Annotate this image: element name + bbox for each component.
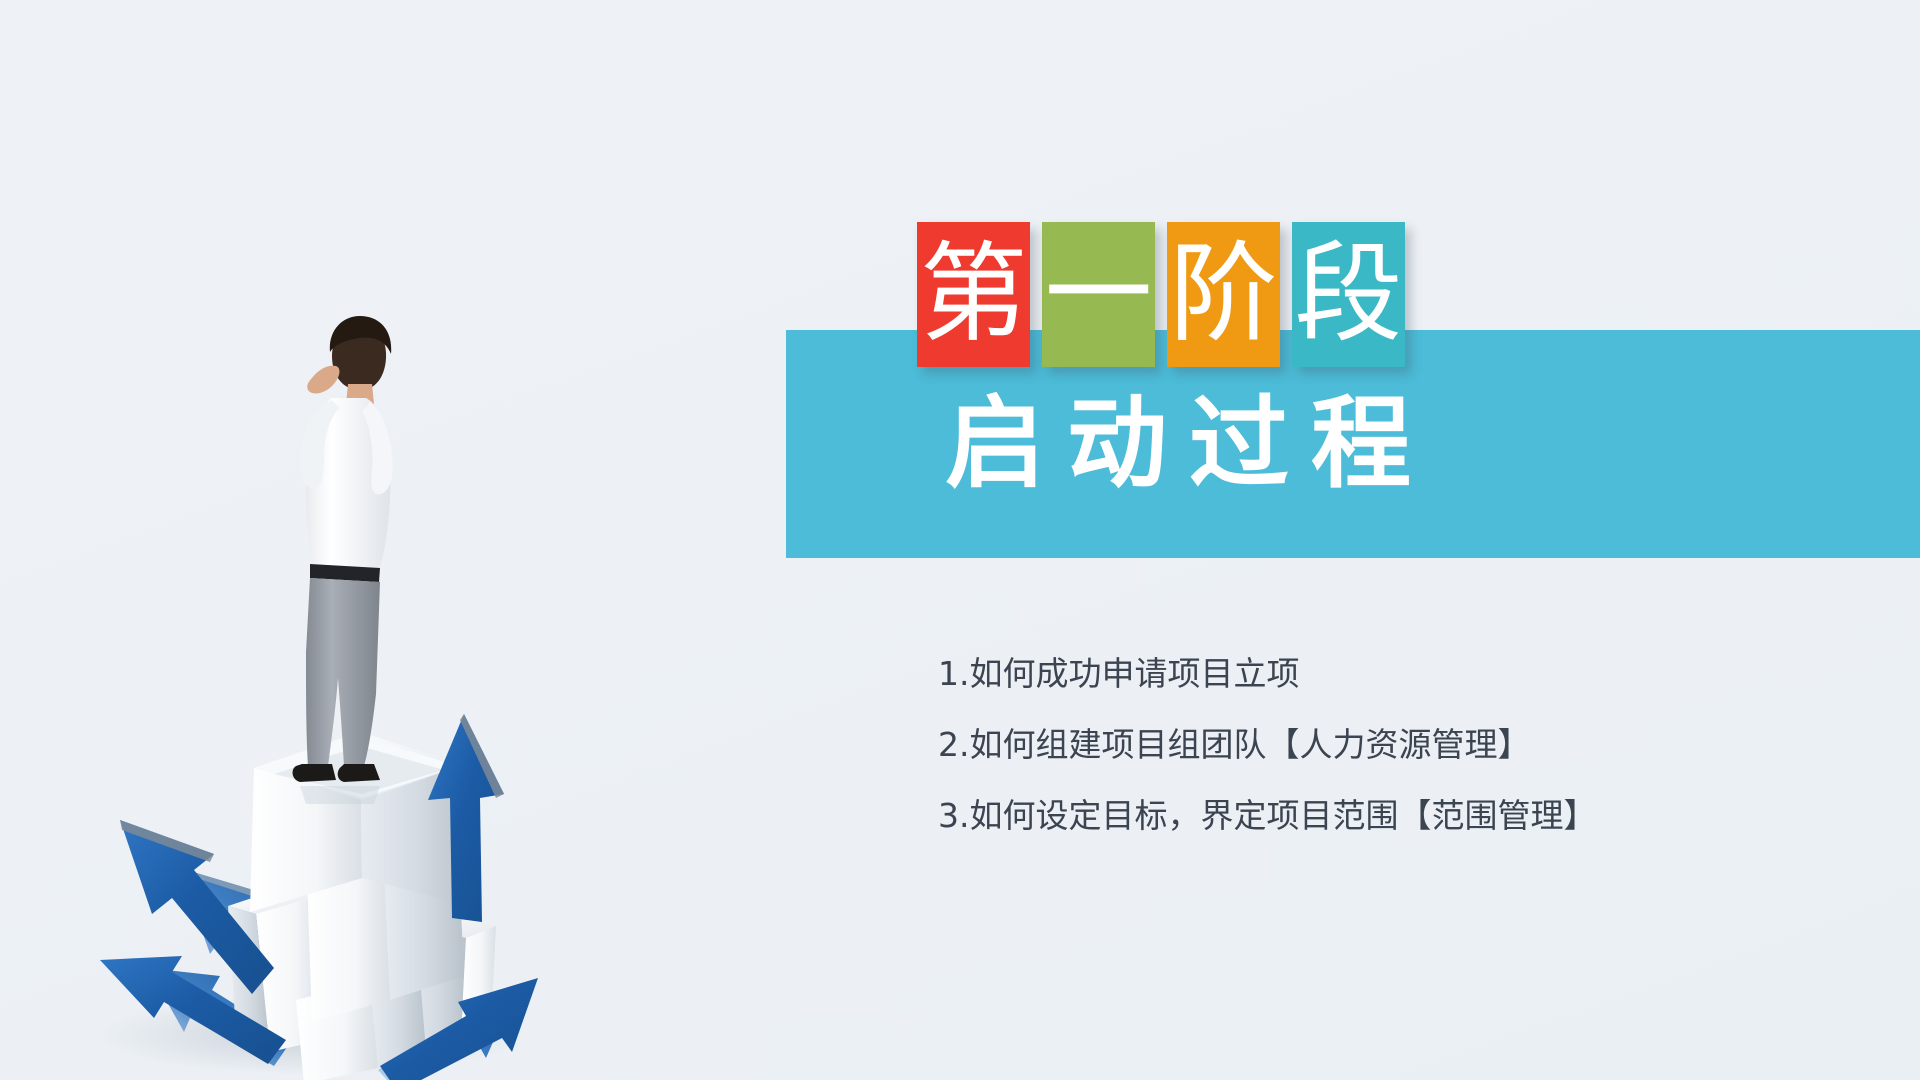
stage-label-tiles: 第 一 阶 段: [917, 222, 1405, 367]
businessman-figure: [293, 316, 393, 804]
stage-tile-2: 一: [1042, 222, 1155, 367]
stage-tile-4-char: 段: [1294, 241, 1402, 349]
slide-main-title: 启动过程: [945, 385, 1433, 503]
stage-tile-1: 第: [917, 222, 1030, 367]
shoe-left: [293, 764, 336, 782]
stage-tile-3: 阶: [1167, 222, 1280, 367]
hero-illustration: [60, 300, 620, 1080]
hand-at-chin: [307, 366, 339, 394]
bullet-item-2: 2.如何组建项目组团队【人力资源管理】: [938, 709, 1798, 780]
stage-tile-1-char: 第: [919, 241, 1027, 349]
trousers: [306, 578, 380, 766]
blocks-and-arrows-graphic: [60, 300, 620, 1080]
bullet-item-1: 1.如何成功申请项目立项: [938, 638, 1798, 709]
bullet-list: 1.如何成功申请项目立项 2.如何组建项目组团队【人力资源管理】 3.如何设定目…: [938, 638, 1798, 851]
slide-canvas: 第 一 阶 段 启动过程 1.如何成功申请项目立项 2.如何组建项目组团队【人力…: [0, 0, 1920, 1080]
stage-tile-3-char: 阶: [1169, 241, 1277, 349]
figure-reflection: [300, 786, 380, 804]
bullet-item-3: 3.如何设定目标，界定项目范围【范围管理】: [938, 780, 1798, 851]
stage-tile-2-char: 一: [1044, 241, 1152, 349]
stage-tile-4: 段: [1292, 222, 1405, 367]
shoe-right: [338, 764, 380, 782]
